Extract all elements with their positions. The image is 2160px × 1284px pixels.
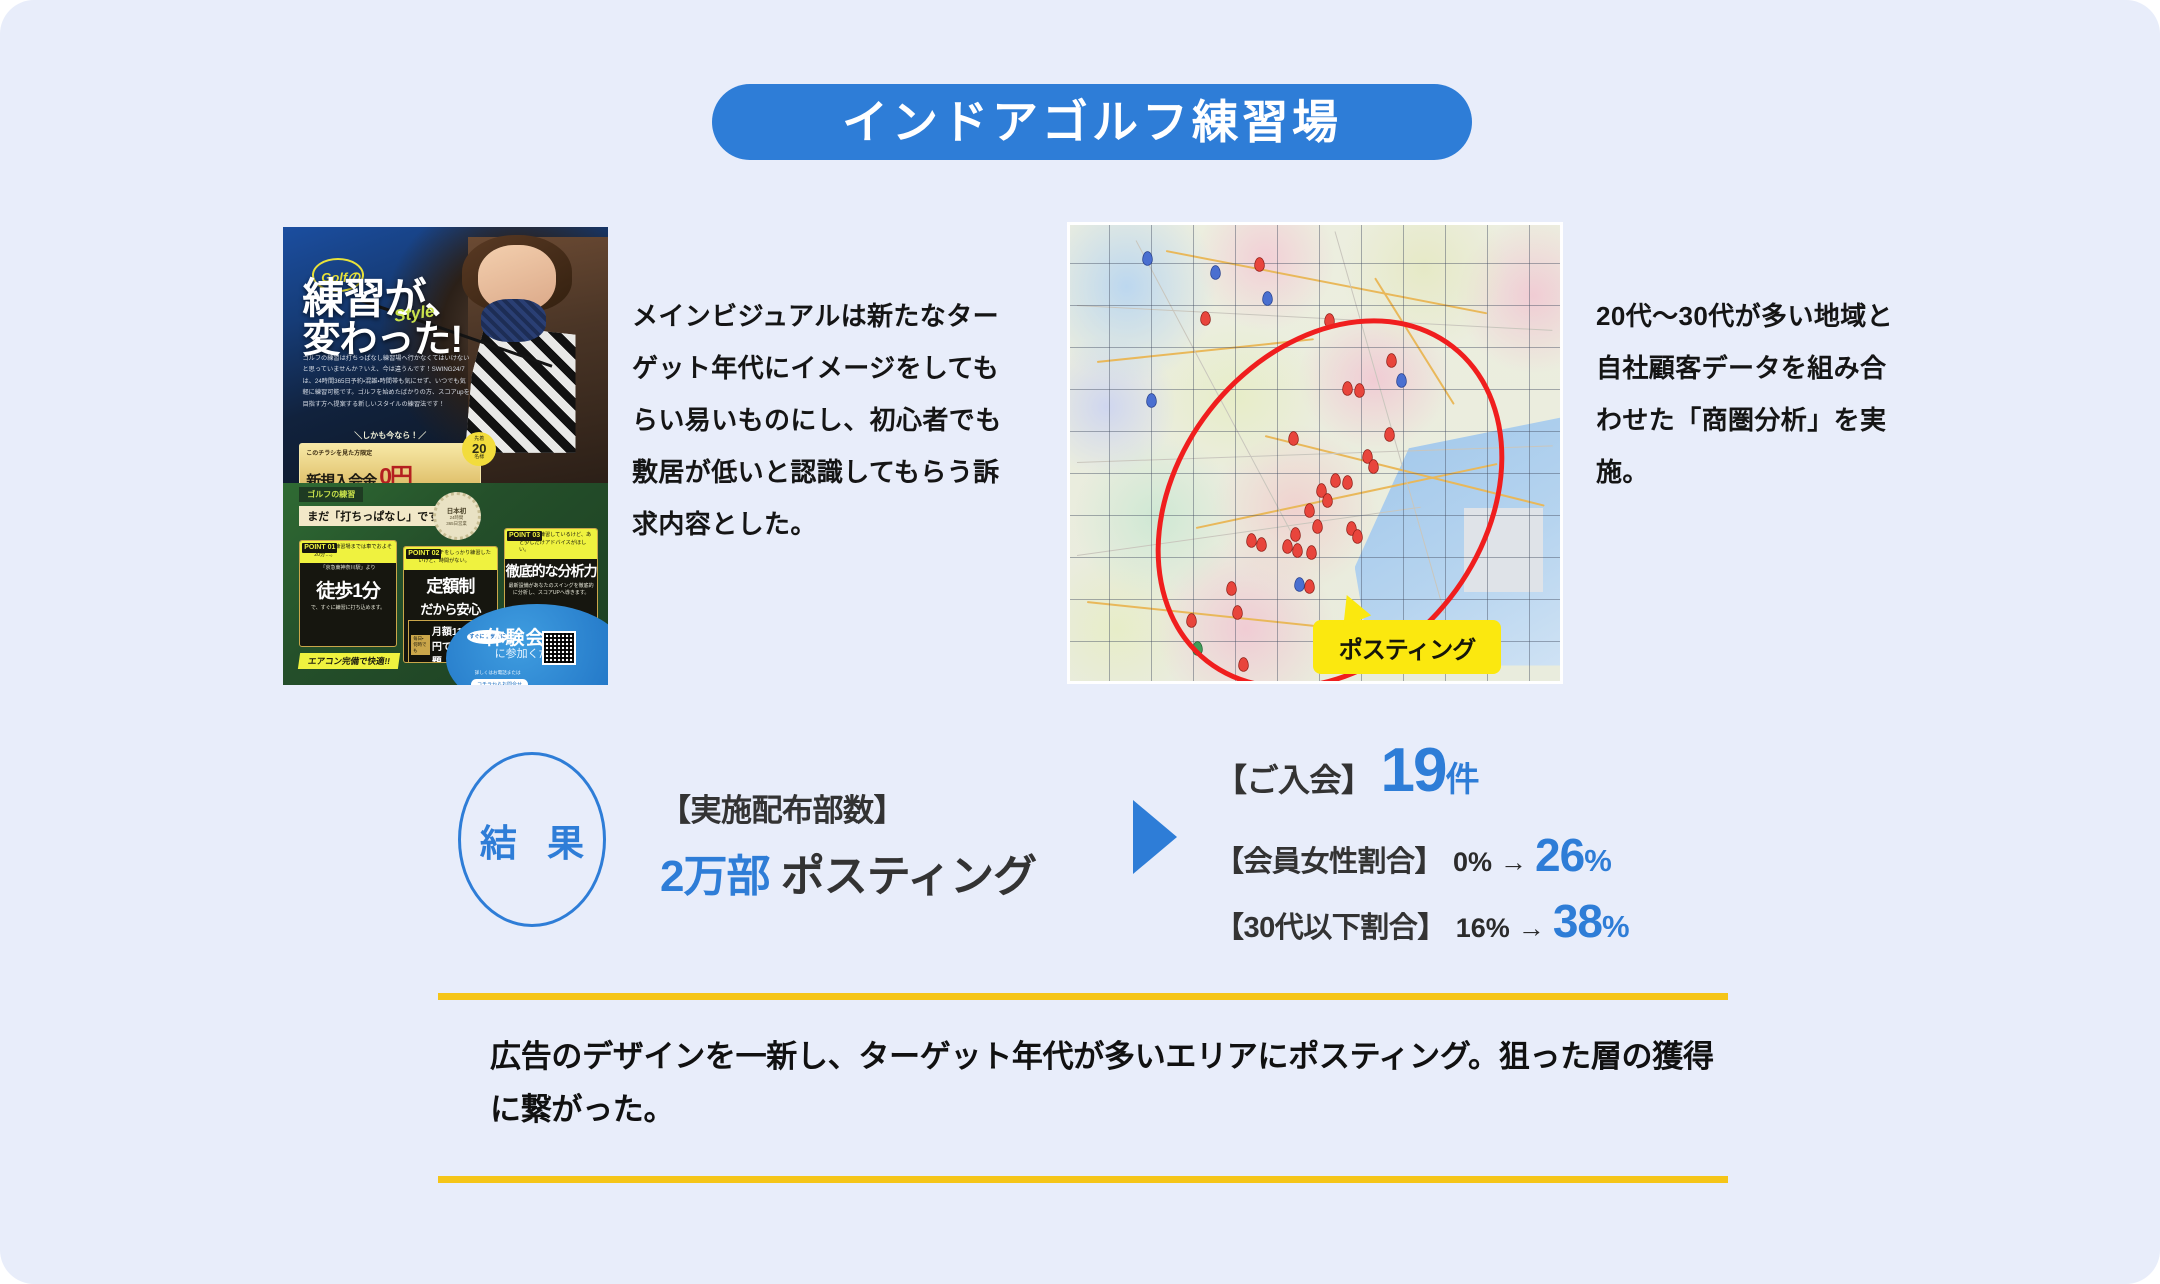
- summary-text: 広告のデザインを一新し、ターゲット年代が多いエリアにポスティング。狙った層の獲得…: [490, 1030, 1730, 1137]
- map-pin: [1147, 394, 1156, 407]
- flyer-trial-caption: 詳しくはお電話または: [475, 670, 521, 676]
- flyer-limited-bottom: 名様: [474, 455, 484, 460]
- flyer-hero: Golfの 練習が、 変わった! Style ゴルフの練習は打ちっぱなし練習場へ…: [283, 227, 608, 483]
- map-callout-label: ポスティング: [1339, 630, 1476, 665]
- market-area-map: ポスティング: [1067, 222, 1563, 684]
- result-joins-label: 【ご入会】: [1215, 755, 1373, 801]
- divider-top: [438, 993, 1728, 1000]
- map-pin: [1263, 292, 1272, 305]
- flyer-offer-lead: ＼しかも今なら！／: [299, 430, 481, 441]
- result-badge: 結 果: [458, 752, 606, 927]
- result-female-to-unit: %: [1584, 843, 1611, 878]
- result-distribution: 【実施配布部数】 2万部 ポスティング: [660, 785, 1036, 904]
- result-under30-from: 16%: [1456, 913, 1510, 944]
- page-title: インドアゴルフ練習場: [842, 99, 1342, 145]
- case-study-card: インドアゴルフ練習場 Golfの 練習が、 変わった! Style ゴルフの練習…: [0, 0, 2160, 1284]
- map-callout-posting: ポスティング: [1313, 620, 1501, 674]
- result-row-joins: 【ご入会】 19 件: [1215, 735, 1629, 806]
- flyer-lower: ゴルフの練習 まだ「打ちっぱなし」ですか？ 日本初 24時間 365日営業 PO…: [283, 483, 608, 685]
- map-pin: [1201, 312, 1210, 325]
- result-female-from: 0%: [1453, 847, 1492, 878]
- flyer-point-3-cap: 最新設備があなたのスイングを徹底的に分析し、スコアUPへ導きます。: [505, 581, 597, 599]
- flyer-point-3-no: POINT 03: [507, 531, 542, 542]
- result-under30-to: 38: [1553, 894, 1602, 948]
- flyer-point-2-no: POINT 02: [406, 549, 441, 560]
- flyer-body-copy: ゴルフの練習は打ちっぱなし練習場へ行かなくてはいけないと思っていませんか？いえ、…: [303, 353, 472, 410]
- qr-code-icon: [542, 631, 576, 665]
- map-pin: [1255, 258, 1264, 271]
- result-outcomes: 【ご入会】 19 件 【会員女性割合】 0% → 26 % 【30代以下割合】 …: [1215, 735, 1629, 948]
- flyer-point-3-bubble: POINT 03 真面目に練習しているけど、あと少しだけアドバイスがほしい。: [505, 529, 597, 559]
- flyer-point-1-bubble: POINT 01 いつもの練習場までは車でおよそ 20分…。: [300, 541, 396, 564]
- page-title-pill: インドアゴルフ練習場: [712, 84, 1472, 160]
- flyer-point-1: POINT 01 いつもの練習場までは車でおよそ 20分…。 「京急東神奈川駅」…: [299, 540, 397, 647]
- result-badge-label: 結 果: [470, 813, 594, 867]
- flyer-seal-bottom: 365日営業: [446, 521, 467, 527]
- flyer-headline: 練習が、 変わった!: [303, 278, 466, 360]
- result-female-to: 26: [1535, 828, 1584, 882]
- result-under30-to-unit: %: [1602, 909, 1629, 944]
- flyer-trial-button: コチラからお問合せ: [471, 679, 528, 685]
- flyer-seal-top: 日本初: [447, 505, 467, 515]
- arrow-transition-icon: →: [1518, 913, 1545, 944]
- flyer-limited-badge: 先着 20 名様: [462, 432, 496, 466]
- result-female-label: 【会員女性割合】: [1215, 838, 1443, 880]
- flyer-point-2-price-tag: 毎日・何時でも: [411, 635, 430, 654]
- result-distribution-volume: 2万部: [660, 852, 769, 901]
- flyer-point-2-bubble: POINT 02 アプローチをしっかり練習したいけど、時間がない。: [404, 547, 496, 570]
- arrow-transition-icon: →: [1500, 847, 1527, 878]
- flyer-description: メインビジュアルは新たなターゲット年代にイメージをしてもらい易いものにし、初心者…: [632, 290, 1024, 550]
- map-pin: [1143, 252, 1152, 265]
- arrow-right-icon: [1133, 800, 1177, 874]
- result-joins-unit: 件: [1445, 752, 1479, 801]
- divider-bottom: [438, 1176, 1728, 1183]
- flyer-offer-note: このチラシを見た方限定: [306, 448, 474, 457]
- result-under30-label: 【30代以下割合】: [1215, 904, 1446, 946]
- result-row-under30-ratio: 【30代以下割合】 16% → 38 %: [1215, 894, 1629, 948]
- result-distribution-method: ポスティング: [781, 852, 1036, 901]
- flyer-point-1-no: POINT 01: [302, 543, 337, 554]
- flyer-point-1-big: 徒歩1分: [300, 574, 396, 603]
- flyer-low-tag: ゴルフの練習: [299, 487, 363, 502]
- flyer-model-sleeve: [481, 299, 546, 343]
- result-distribution-label: 【実施配布部数】: [660, 785, 1036, 830]
- result-joins-value: 19: [1381, 735, 1446, 806]
- flyer-aircon-note: エアコン完備で快適!!: [298, 653, 400, 669]
- map-description: 20代〜30代が多い地域と自社顧客データを組み合わせた「商圏分析」を実施。: [1596, 290, 1906, 498]
- flyer-point-1-cap: で、すぐに練習に打ち込めます。: [300, 603, 396, 614]
- flyer-seal-badge: 日本初 24時間 365日営業: [433, 492, 481, 540]
- flyer-headline-1: 練習: [303, 275, 385, 322]
- flyer-point-2-big: 定額制: [404, 570, 496, 597]
- flyer-image: Golfの 練習が、 変わった! Style ゴルフの練習は打ちっぱなし練習場へ…: [283, 227, 608, 685]
- map-pin: [1211, 266, 1220, 279]
- flyer-point-3-big: 徹底的な分析力: [505, 559, 597, 581]
- result-row-female-ratio: 【会員女性割合】 0% → 26 %: [1215, 828, 1629, 882]
- flyer-point-1-pre: 「京急東神奈川駅」より: [300, 563, 396, 574]
